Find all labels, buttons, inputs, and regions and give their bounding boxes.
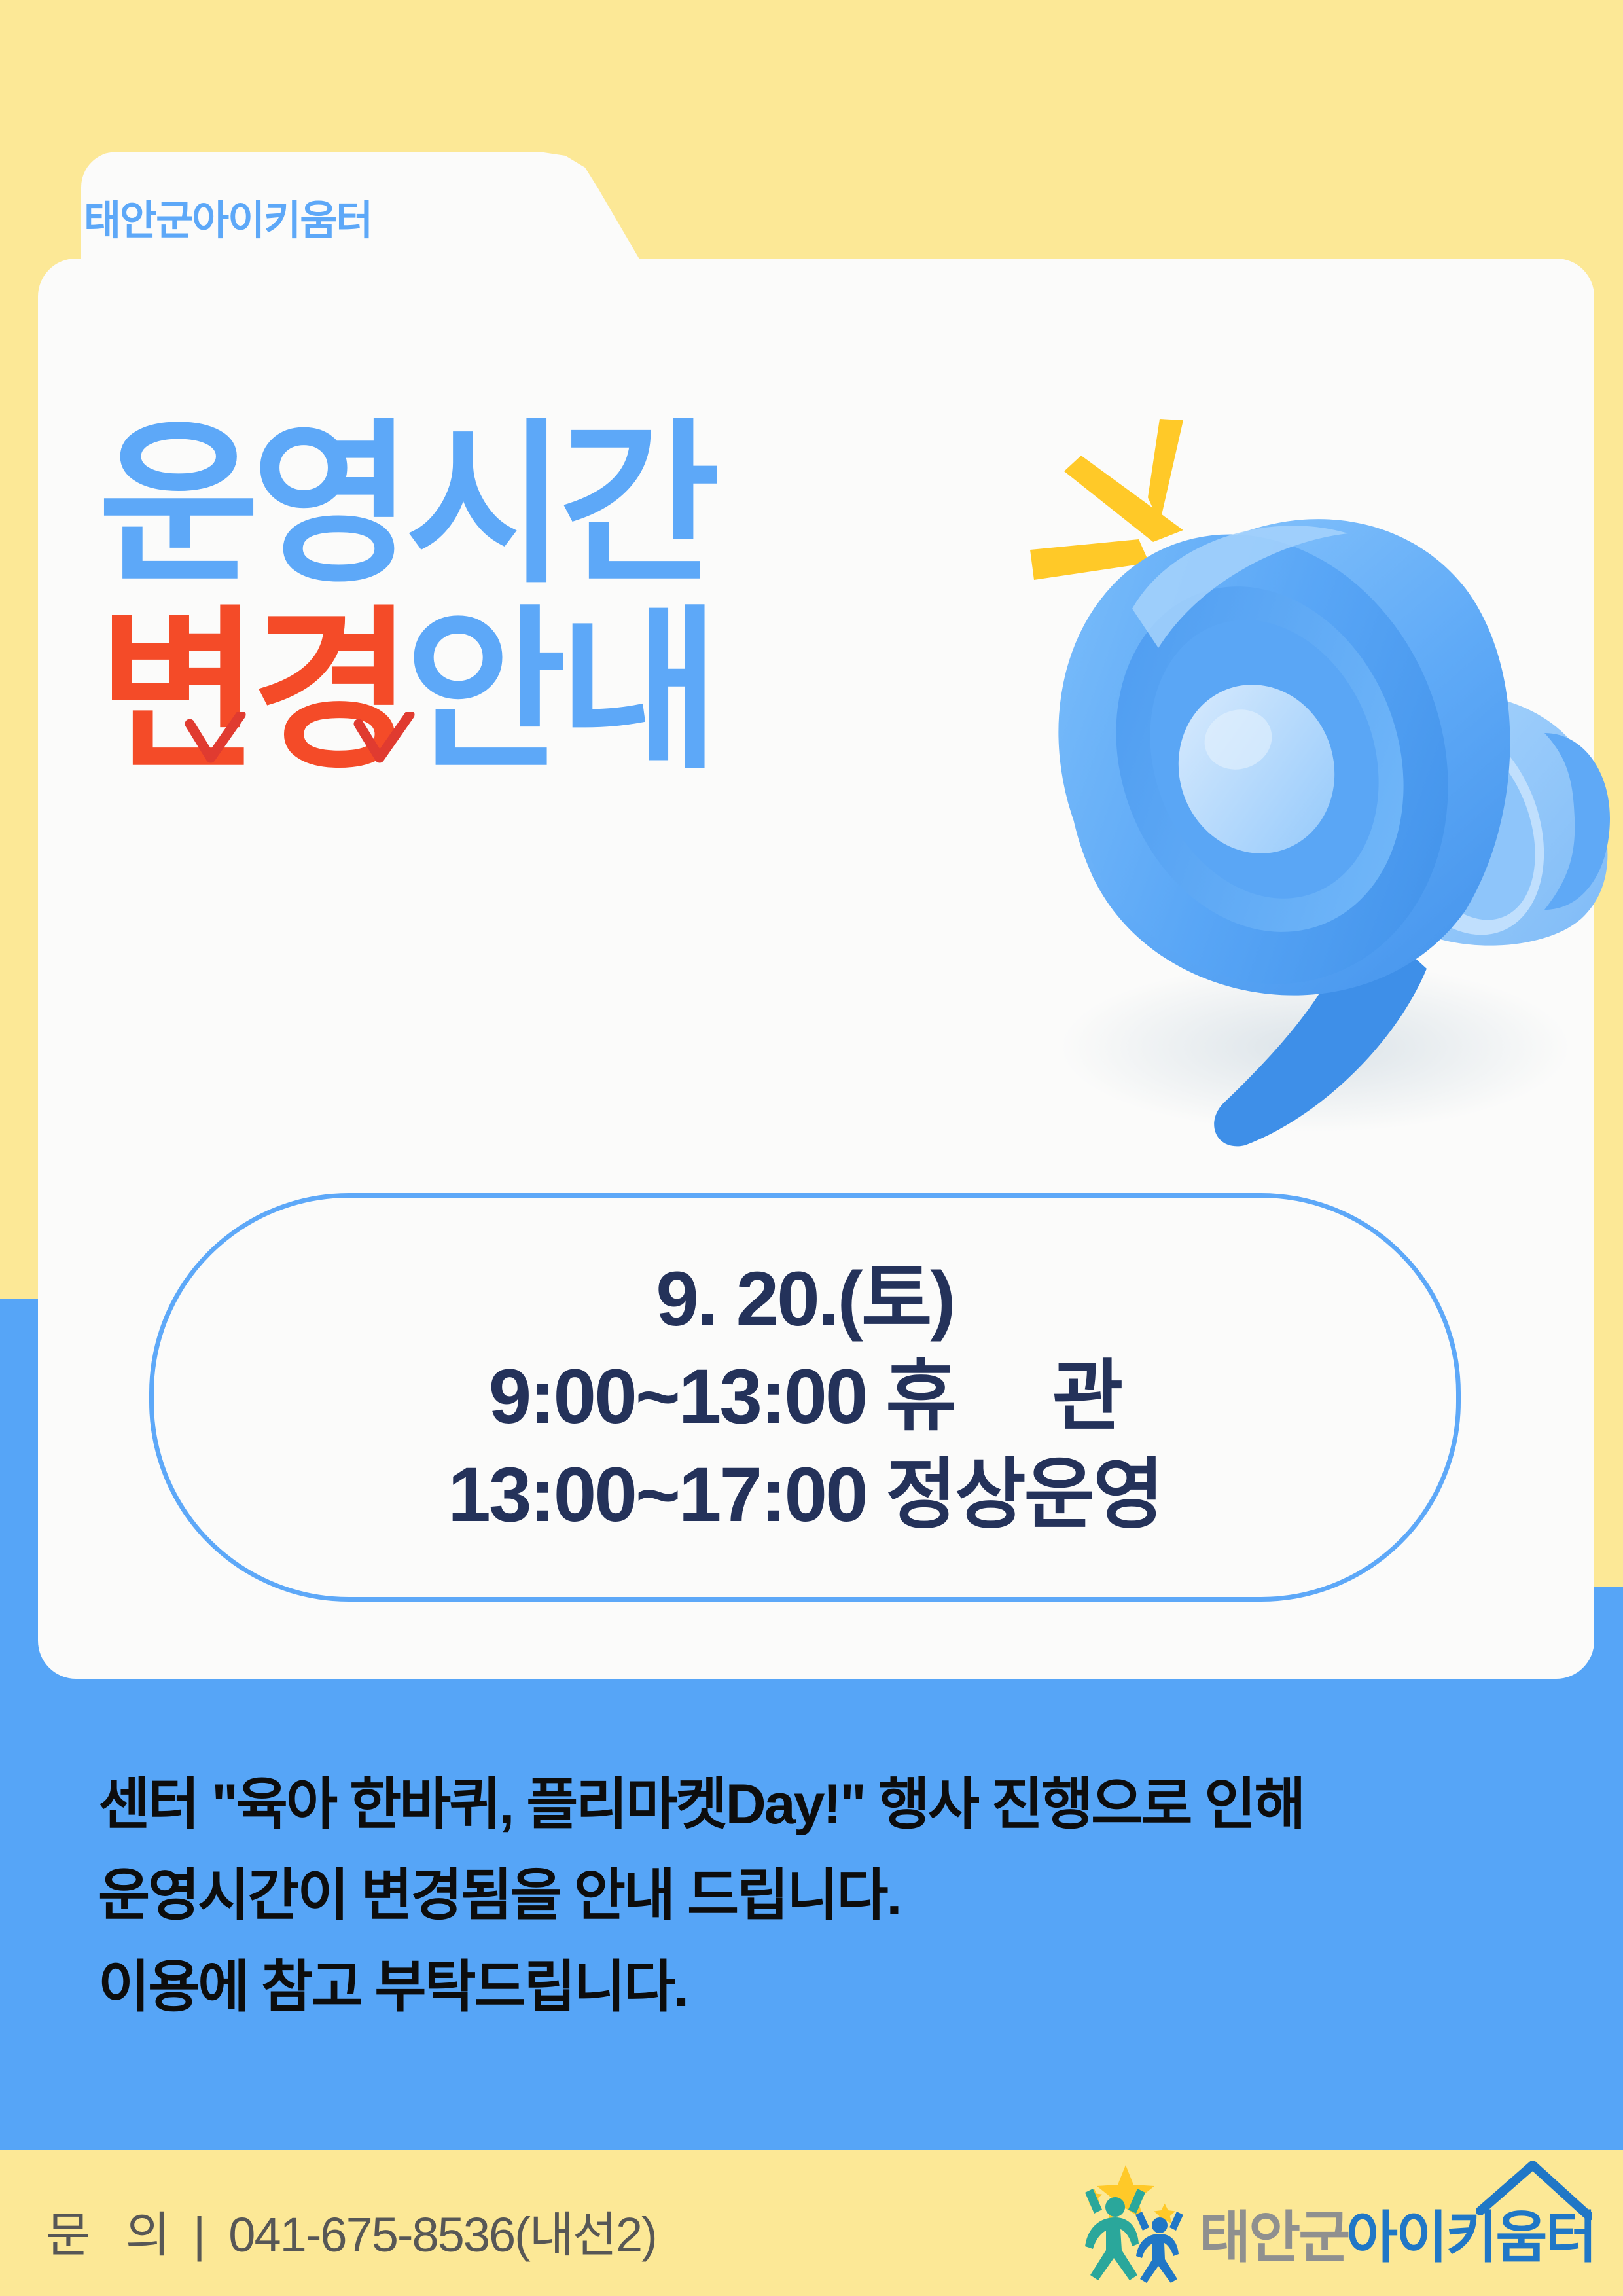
notice-body: 센터 "육아 한바퀴, 플리마켓Day!" 행사 진행으로 인해 운영시간이 변… — [98, 1759, 1538, 2033]
logo-text-blue: 아이키움터 — [1346, 2206, 1592, 2269]
schedule-line-date: 9. 20.(토) — [656, 1254, 954, 1345]
logo-text-gray: 태안군 — [1199, 2206, 1349, 2269]
taean-aikium-logo: 태안군 아이키움터 — [1075, 2160, 1592, 2284]
schedule-line-closed: 9:00~13:00 휴 관 — [489, 1352, 1122, 1443]
notice-body-line-2: 운영시간이 변경됨을 안내 드립니다. — [98, 1850, 1538, 1941]
red-check-marks-icon — [183, 712, 458, 771]
notice-body-line-1: 센터 "육아 한바퀴, 플리마켓Day!" 행사 진행으로 인해 — [98, 1759, 1538, 1850]
headline-line-1: 운영시간 — [98, 419, 712, 591]
footer-contact: 문 의 | 041-675-8536(내선2) — [46, 2196, 656, 2266]
header-tab-label: 태안군아이키움터 — [84, 187, 372, 246]
notice-body-line-3: 이용에 참고 부탁드립니다. — [98, 1942, 1538, 2033]
schedule-line-open: 13:00~17:00 정상운영 — [448, 1450, 1162, 1541]
poster-canvas: 태안군아이키움터 운영시간 변경안내 — [0, 0, 1623, 2296]
schedule-info-box: 9. 20.(토) 9:00~13:00 휴 관 13:00~17:00 정상운… — [149, 1193, 1461, 1602]
